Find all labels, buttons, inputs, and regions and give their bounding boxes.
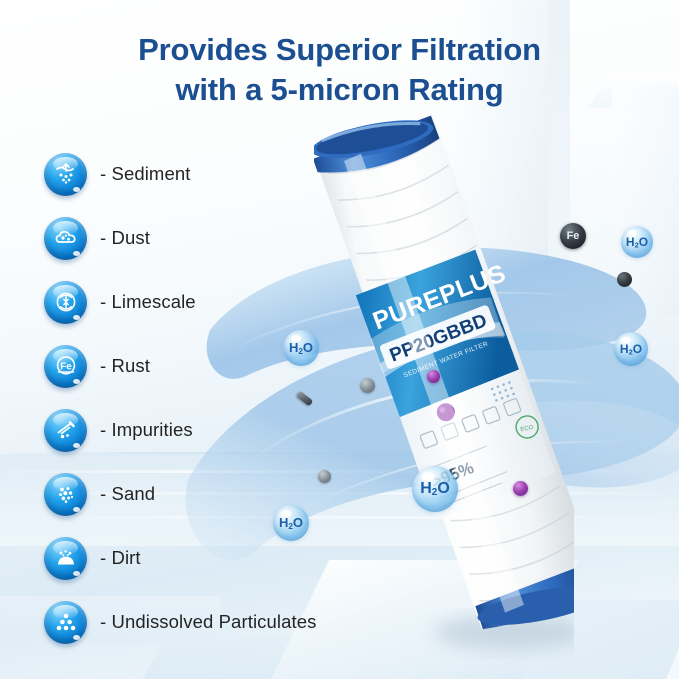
product-feature-banner: PUREPLUS PP20GBBD SEDIMENT WATER FILTER … (0, 0, 679, 679)
contaminant-feature-list: - Sediment - Dust (44, 142, 374, 654)
list-item-label: - Dust (100, 227, 150, 249)
dust-cloud-icon (44, 217, 87, 260)
list-item: - Dust (44, 206, 374, 270)
rust-fe-particle: Fe (560, 223, 586, 249)
dark-particle-right (617, 272, 632, 287)
h2o-bubble-right-mid: H2O (614, 332, 648, 366)
list-item-label: - Rust (100, 355, 150, 377)
page-title: Provides Superior Filtration with a 5-mi… (0, 30, 679, 109)
list-item: - Sand (44, 462, 374, 526)
sediment-icon (44, 153, 87, 196)
particulates-icon (44, 601, 87, 644)
list-item-label: - Impurities (100, 419, 193, 441)
impurities-icon (44, 409, 87, 452)
list-item-label: - Dirt (100, 547, 141, 569)
h2o-bubble-bottom-center: H2O (412, 466, 458, 512)
h2o-text: H2O (620, 342, 642, 357)
headline-line-2: with a 5-micron Rating (0, 70, 679, 110)
headline-line-1: Provides Superior Filtration (138, 32, 541, 67)
purple-microbe-label (427, 370, 440, 383)
list-item: - Limescale (44, 270, 374, 334)
list-item-label: - Sand (100, 483, 155, 505)
list-item: - Dirt (44, 526, 374, 590)
svg-text:Fe: Fe (60, 361, 72, 372)
dirt-icon (44, 537, 87, 580)
h2o-bubble-right-upper: H2O (621, 226, 653, 258)
h2o-text: H2O (626, 235, 648, 250)
purple-microbe-bottom (513, 481, 528, 496)
list-item: - Sediment (44, 142, 374, 206)
sand-icon (44, 473, 87, 516)
h2o-text: H2O (420, 480, 450, 498)
list-item-label: - Limescale (100, 291, 196, 313)
list-item: - Undissolved Particulates (44, 590, 374, 654)
list-item: - Impurities (44, 398, 374, 462)
list-item: Fe - Rust (44, 334, 374, 398)
list-item-label: - Sediment (100, 163, 190, 185)
list-item-label: - Undissolved Particulates (100, 611, 316, 633)
limescale-icon (44, 281, 87, 324)
rust-fe-icon: Fe (44, 345, 87, 388)
